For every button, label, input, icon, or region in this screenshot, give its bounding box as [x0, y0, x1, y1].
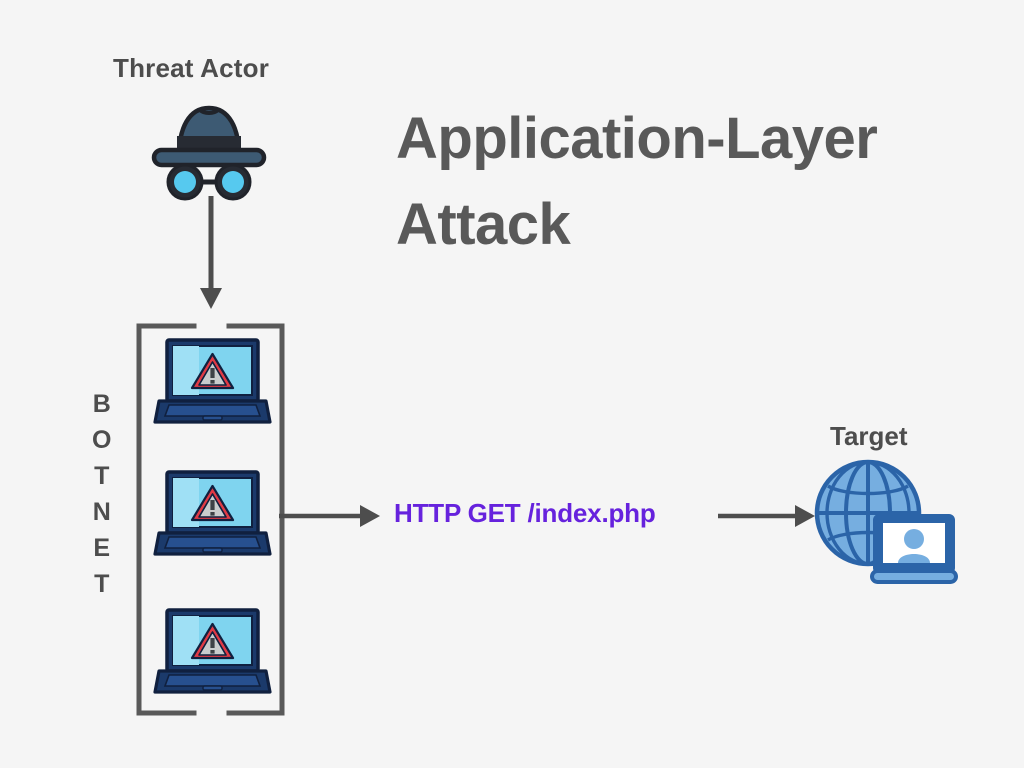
botnet-letter: T	[94, 572, 109, 597]
diagram-canvas: Threat Actor Application-Layer Attack	[0, 0, 1024, 768]
target-server-icon	[812, 458, 960, 584]
monitor-icon	[872, 516, 956, 582]
botnet-letter: B	[93, 392, 111, 417]
botnet-letter: T	[94, 464, 109, 489]
botnet-letter: O	[92, 428, 111, 453]
botnet-label: B O T N E T	[92, 392, 111, 597]
target-label: Target	[830, 421, 908, 452]
botnet-letter: E	[93, 536, 110, 561]
threat-actor-icon	[148, 98, 270, 200]
threat-actor-label: Threat Actor	[113, 53, 269, 84]
infected-laptop-icon	[155, 608, 270, 698]
arrow-right-icon	[718, 496, 818, 536]
arrow-down-icon	[183, 196, 239, 312]
page-title: Application-Layer Attack	[396, 96, 996, 268]
http-request-label: HTTP GET /index.php	[394, 498, 656, 529]
infected-laptop-icon	[155, 470, 270, 560]
arrow-right-icon	[279, 496, 384, 536]
infected-laptop-icon	[155, 338, 270, 428]
botnet-letter: N	[93, 500, 111, 525]
